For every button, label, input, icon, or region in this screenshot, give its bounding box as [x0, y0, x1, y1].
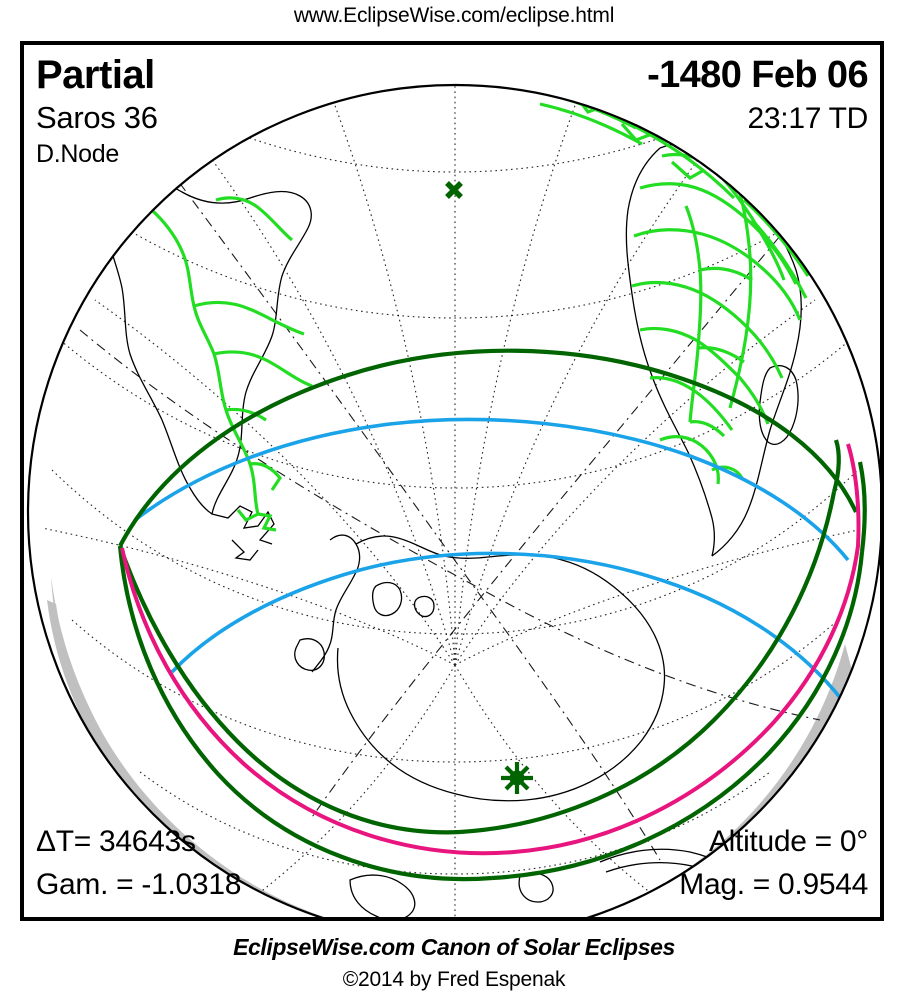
eclipse-date-label: -1480 Feb 06	[647, 56, 868, 94]
canon-title: EclipseWise.com Canon of Solar Eclipses	[0, 934, 908, 961]
eclipse-map-frame: Partial Saros 36 D.Node -1480 Feb 06 23:…	[20, 41, 884, 921]
eclipse-type-label: Partial	[36, 55, 155, 95]
orthographic-globe	[24, 45, 880, 917]
gamma-label: Gam. = -1.0318	[36, 870, 241, 900]
saros-label: Saros 36	[36, 102, 158, 133]
delta-t-label: ΔT= 34643s	[36, 827, 196, 857]
eclipse-time-label: 23:17 TD	[748, 104, 868, 134]
node-label: D.Node	[36, 142, 119, 167]
magnitude-label: Mag. = 0.9544	[679, 870, 868, 900]
source-url: www.EclipseWise.com/eclipse.html	[0, 4, 908, 28]
copyright-label: ©2014 by Fred Espenak	[0, 968, 908, 992]
eclipse-figure-page: www.EclipseWise.com/eclipse.html	[0, 0, 908, 1004]
altitude-label: Altitude = 0°	[709, 827, 868, 857]
globe-clip	[24, 45, 880, 917]
